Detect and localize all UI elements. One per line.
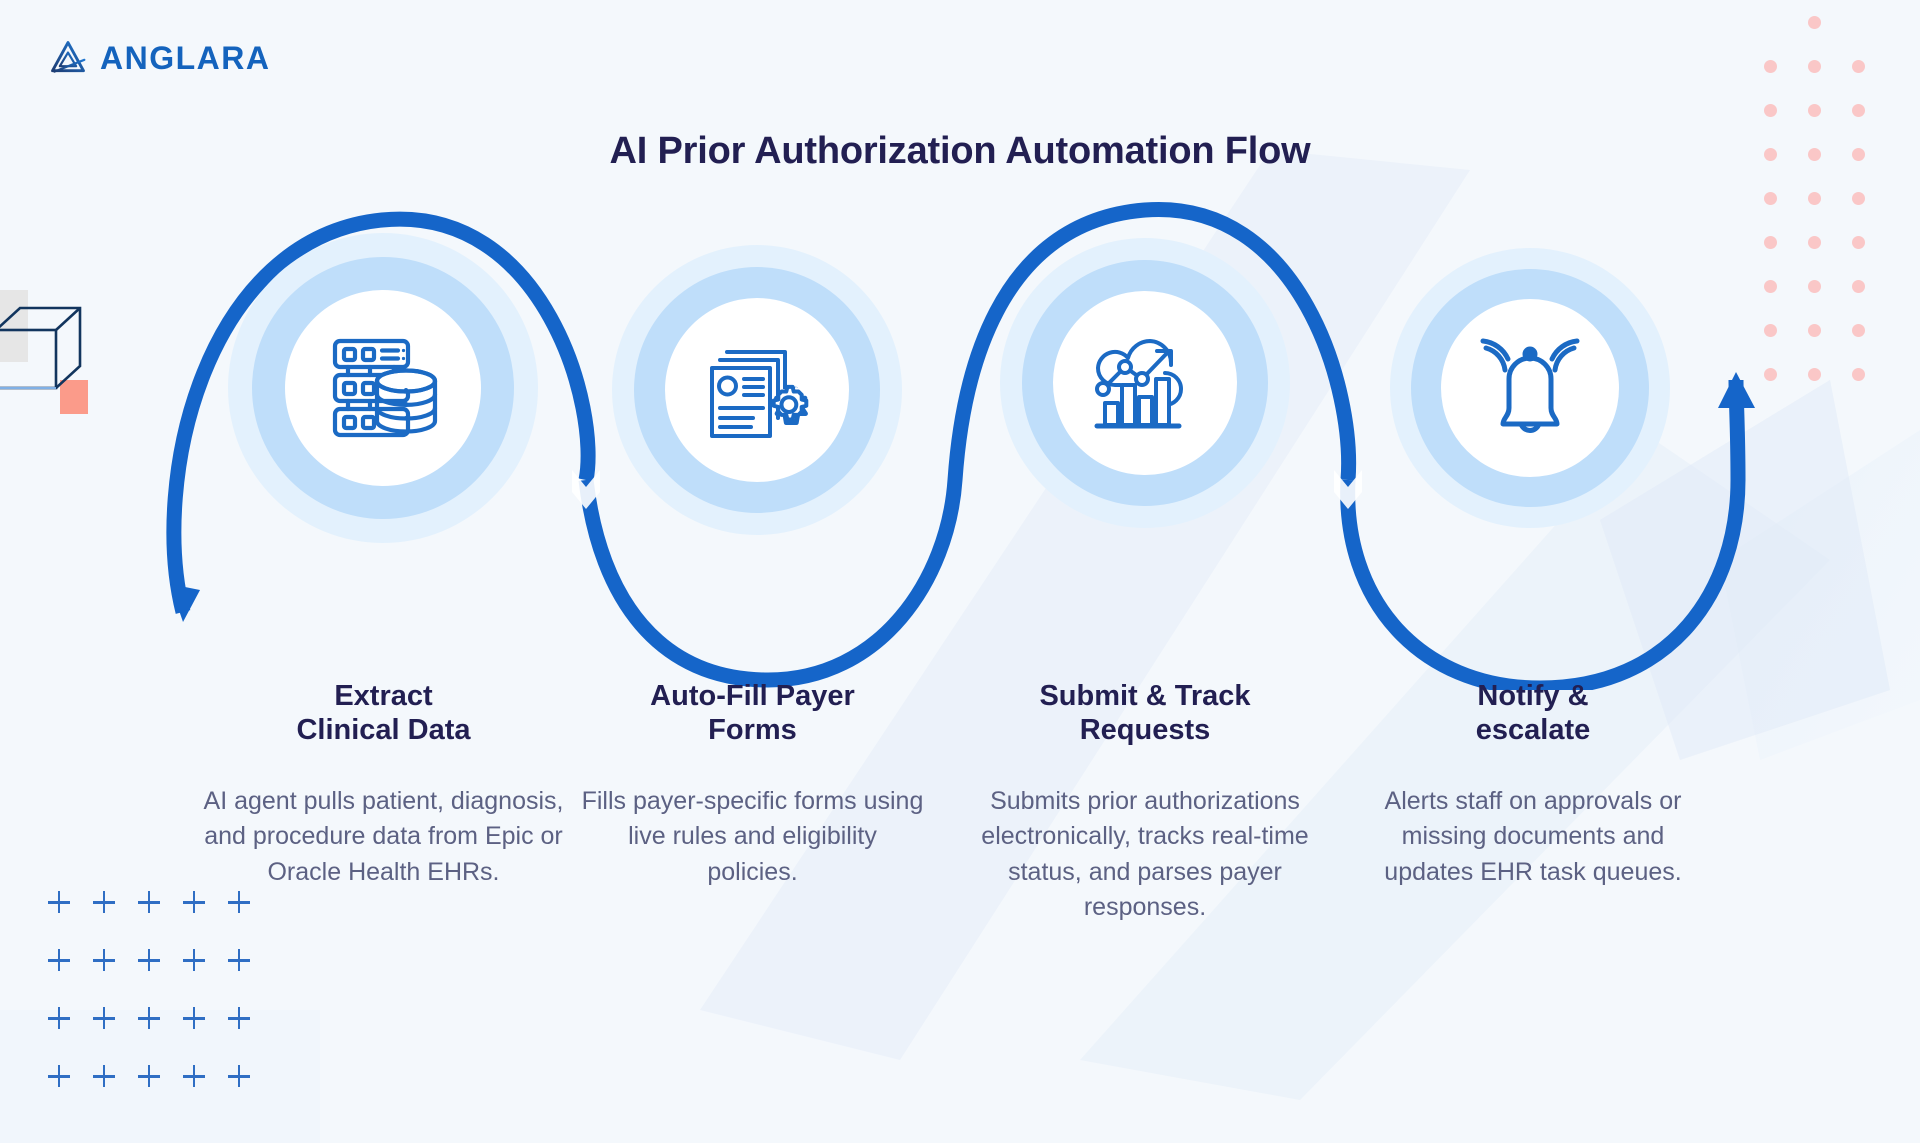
step-column-4: Notify & escalate Alerts staff on approv… <box>1368 680 1698 890</box>
step-node-4[interactable] <box>1390 248 1670 528</box>
icon-disc <box>1441 299 1619 477</box>
plus <box>85 880 130 938</box>
step-heading: Extract Clinical Data <box>196 680 571 748</box>
step-body: Submits prior authorizations electronica… <box>975 784 1315 926</box>
documents-gear-icon <box>701 334 813 446</box>
step-column-1: Extract Clinical Data AI agent pulls pat… <box>196 680 571 890</box>
icon-disc <box>1053 291 1237 475</box>
step-heading: Submit & Track Requests <box>975 680 1315 748</box>
step-column-3: Submit & Track Requests Submits prior au… <box>975 680 1315 926</box>
plus <box>130 880 175 938</box>
alert-bell-icon <box>1474 332 1586 444</box>
plus <box>220 938 265 996</box>
step-body: Alerts staff on approvals or missing doc… <box>1368 784 1698 891</box>
icon-disc <box>285 290 481 486</box>
plus <box>40 1054 85 1112</box>
plus <box>220 996 265 1054</box>
plus <box>85 938 130 996</box>
step-column-2: Auto-Fill Payer Forms Fills payer-specif… <box>580 680 925 890</box>
plus <box>40 880 85 938</box>
anglara-triangle-logo-icon <box>48 38 88 78</box>
plus <box>130 996 175 1054</box>
step-body: AI agent pulls patient, diagnosis, and p… <box>196 784 571 891</box>
dot <box>1792 88 1836 132</box>
plus <box>130 938 175 996</box>
cloud-analytics-icon <box>1087 327 1203 439</box>
plus <box>175 1054 220 1112</box>
plus <box>40 996 85 1054</box>
step-node-3[interactable] <box>1000 238 1290 528</box>
plus <box>85 996 130 1054</box>
page-title: AI Prior Authorization Automation Flow <box>0 130 1920 173</box>
dot <box>1748 88 1792 132</box>
plus <box>40 938 85 996</box>
dot <box>1792 0 1836 44</box>
plus <box>130 1054 175 1112</box>
icon-disc <box>665 298 849 482</box>
step-node-1[interactable] <box>228 233 538 543</box>
plus-grid-decoration <box>40 880 265 1112</box>
brand-name: ANGLARA <box>100 40 270 77</box>
plus <box>85 1054 130 1112</box>
step-body: Fills payer-specific forms using live ru… <box>580 784 925 891</box>
step-heading: Notify & escalate <box>1368 680 1698 748</box>
dot <box>1836 88 1880 132</box>
plus <box>220 1054 265 1112</box>
dot <box>1836 44 1880 88</box>
step-node-2[interactable] <box>612 245 902 535</box>
brand-logo[interactable]: ANGLARA <box>48 38 270 78</box>
plus <box>175 938 220 996</box>
plus <box>175 996 220 1054</box>
step-heading: Auto-Fill Payer Forms <box>580 680 925 748</box>
dot <box>1748 44 1792 88</box>
dot <box>1792 44 1836 88</box>
database-server-icon <box>324 329 442 447</box>
